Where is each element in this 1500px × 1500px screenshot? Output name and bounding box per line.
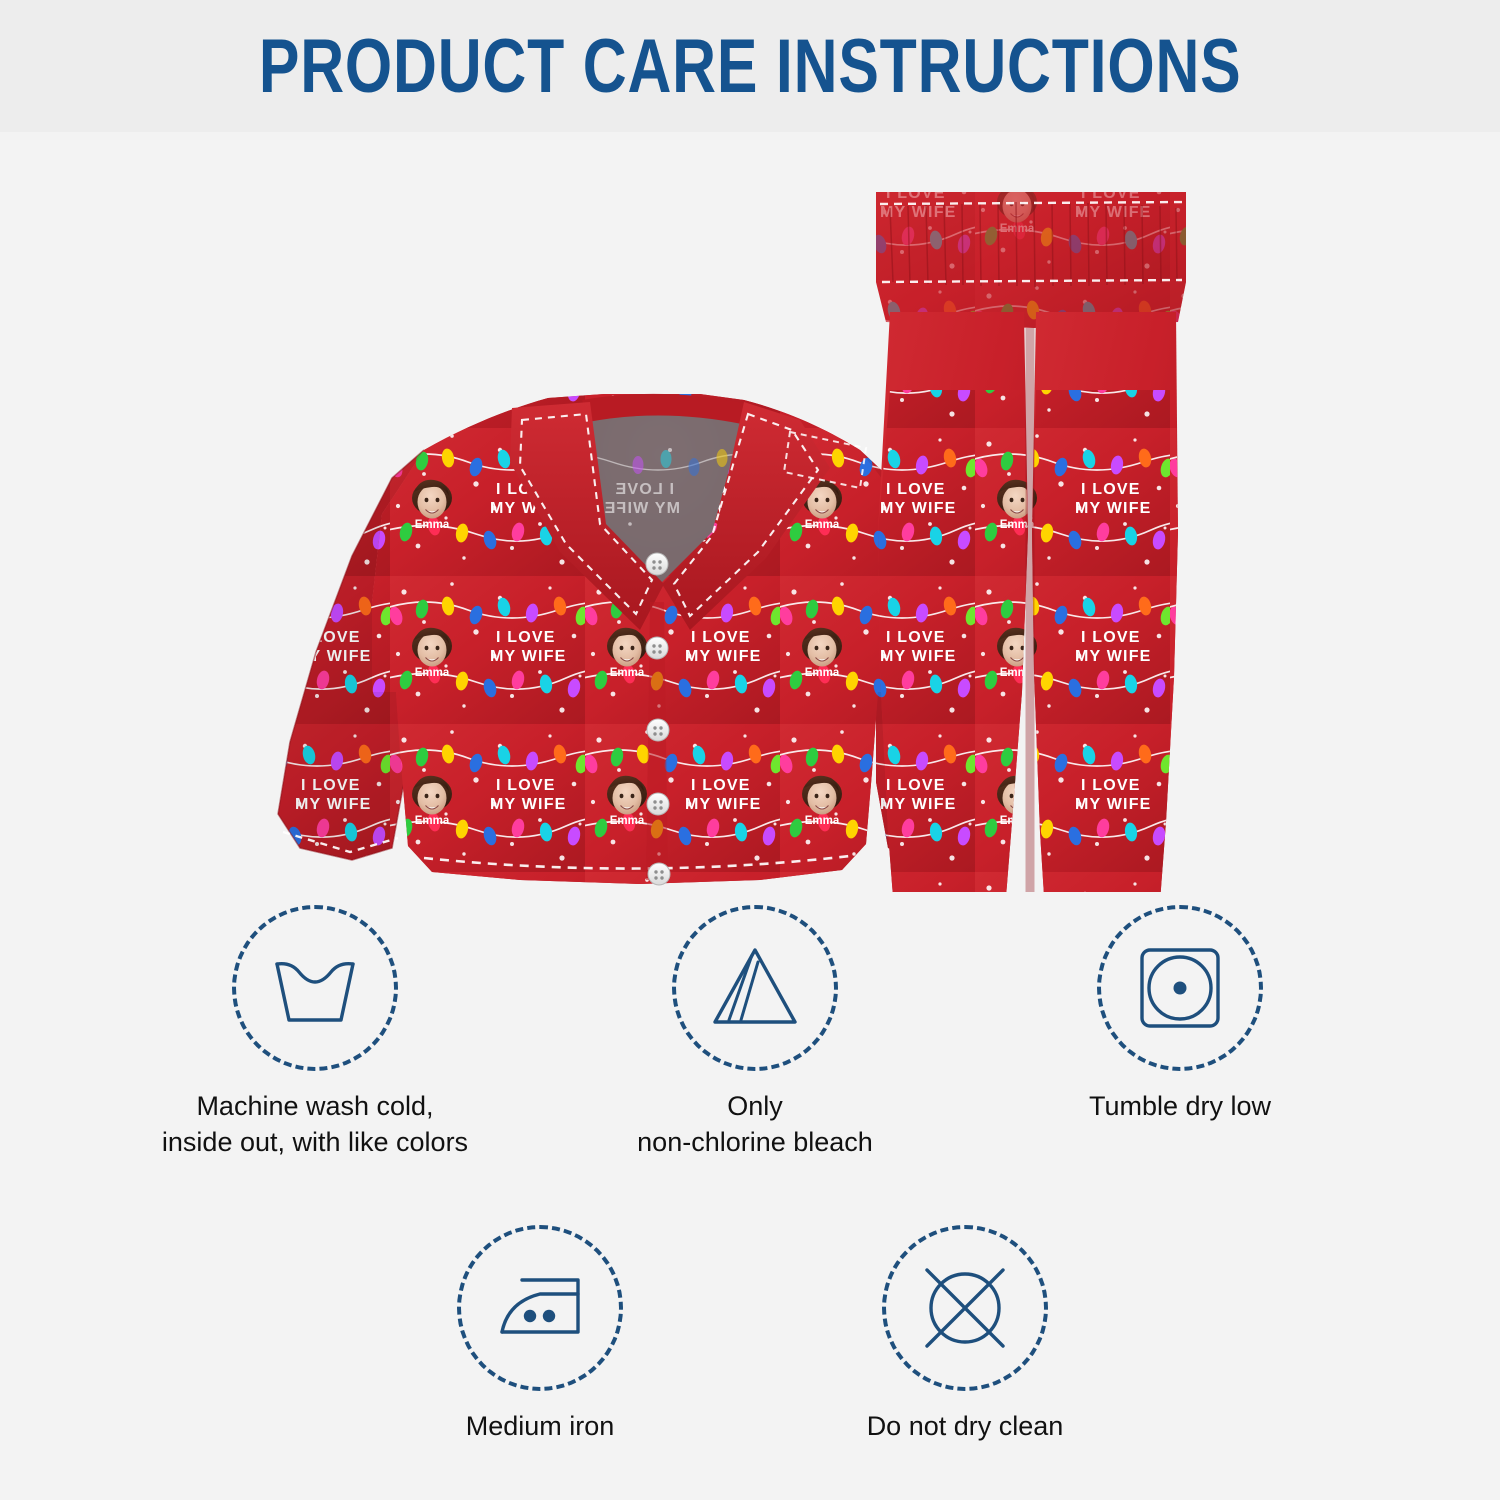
care-label: Do not dry clean [795,1409,1135,1445]
care-icon-ring [1097,905,1263,1071]
care-icon-ring [882,1225,1048,1391]
pants-right-leg [1025,302,1200,892]
product-image-stage: I LOVE MY WIFE Emma [0,132,1500,892]
pants-left-leg [870,302,1045,892]
page-title: PRODUCT CARE INSTRUCTIONS [259,23,1242,110]
page-header: PRODUCT CARE INSTRUCTIONS [0,0,1500,132]
tumble-dry-low-icon [1132,940,1228,1036]
pajama-pants [870,187,1200,892]
care-instructions-section: Machine wash cold, inside out, with like… [0,890,1500,1500]
care-icon-ring [672,905,838,1071]
care-icon-ring [457,1225,623,1391]
care-item-machine-wash: Machine wash cold, inside out, with like… [145,905,485,1160]
care-label: Machine wash cold, inside out, with like… [145,1089,485,1160]
care-item-medium-iron: Medium iron [370,1225,710,1445]
do-not-dry-clean-icon [917,1260,1013,1356]
care-item-tumble-dry-low: Tumble dry low [1010,905,1350,1125]
care-item-non-chlorine-bleach: Only non-chlorine bleach [585,905,925,1160]
care-label: Only non-chlorine bleach [585,1089,925,1160]
pants-waistband [870,187,1200,332]
machine-wash-icon [265,942,365,1034]
pajama-set-illustration: I LOVE MY WIFE Emma [0,132,1500,892]
medium-iron-icon [488,1268,592,1348]
non-chlorine-bleach-icon [705,942,805,1034]
care-item-do-not-dry-clean: Do not dry clean [795,1225,1135,1445]
care-label: Tumble dry low [1010,1089,1350,1125]
care-icon-ring [232,905,398,1071]
care-label: Medium iron [370,1409,710,1445]
